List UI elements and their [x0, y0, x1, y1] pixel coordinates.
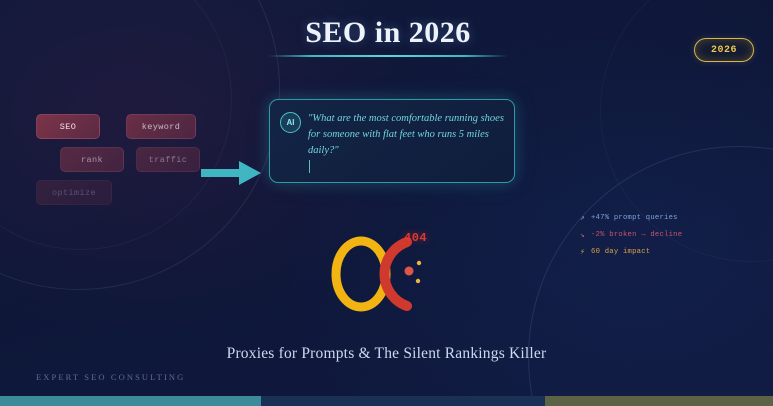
trend-up-icon: ↗: [580, 213, 591, 223]
year-badge[interactable]: 2026: [694, 38, 754, 62]
ai-badge: AI: [280, 112, 301, 133]
decorative-ring-right: [528, 146, 773, 406]
keyword-pill[interactable]: traffic: [136, 147, 200, 172]
ai-prompt-card[interactable]: AI "What are the most comfortable runnin…: [269, 99, 515, 183]
bolt-icon: ⚡: [580, 247, 591, 257]
brand-label: EXPERT SEO CONSULTING: [36, 372, 185, 382]
flow-arrow-icon: [201, 158, 263, 188]
metric-row: ↗ +47% prompt queries: [580, 210, 710, 226]
metric-label: 60 day impact: [591, 248, 650, 256]
ai-prompt-text: "What are the most comfortable running s…: [308, 111, 504, 159]
keyword-pill[interactable]: keyword: [126, 114, 196, 139]
keyword-pill[interactable]: rank: [60, 147, 124, 172]
metric-label: -2% broken → decline: [591, 231, 682, 239]
bar-segment-navy: [261, 396, 545, 406]
bar-segment-teal: [0, 396, 261, 406]
title-block: SEO in 2026: [268, 16, 508, 57]
metric-label: +47% prompt queries: [591, 214, 678, 222]
trend-down-icon: ↘: [580, 230, 591, 240]
keyword-pill[interactable]: SEO: [36, 114, 100, 139]
page-title: SEO in 2026: [268, 16, 508, 49]
keyword-pill[interactable]: optimize: [36, 180, 112, 205]
slide-canvas: SEO in 2026 2026 SEO keyword rank traffi…: [0, 0, 773, 406]
metrics-list: ↗ +47% prompt queries ↘ -2% broken → dec…: [580, 210, 710, 261]
broken-link-glyph: [330, 228, 450, 316]
keyword-pill-cloud: SEO keyword rank traffic optimize: [36, 114, 216, 204]
title-underline: [268, 55, 508, 57]
text-caret: [309, 160, 310, 173]
slide-caption: Proxies for Prompts & The Silent Ranking…: [0, 345, 773, 363]
bottom-accent-bar: [0, 396, 773, 406]
error-code-label: 404: [404, 231, 427, 245]
bar-segment-olive: [545, 396, 773, 406]
metric-row: ↘ -2% broken → decline: [580, 227, 710, 243]
metric-row: ⚡ 60 day impact: [580, 244, 710, 260]
